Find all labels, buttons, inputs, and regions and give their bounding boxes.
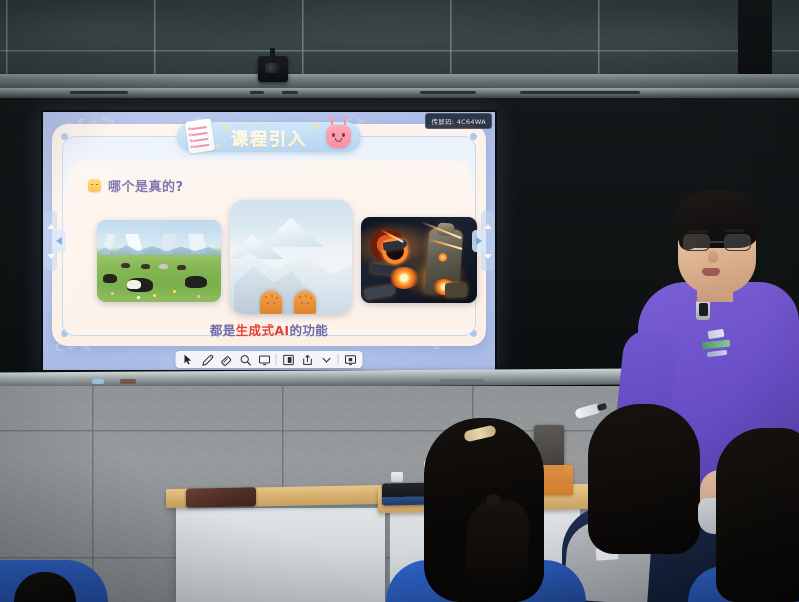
classroom-scene: + C ÷ % π ∞ √ < > C ÷ % Σ × # 传屏码: 4C64W… <box>0 0 799 602</box>
board-vent <box>520 91 640 94</box>
eraser-icon[interactable] <box>217 352 236 367</box>
board-vent <box>250 91 264 94</box>
rail-marker <box>92 379 104 384</box>
smiley-face-icon <box>88 179 101 192</box>
rail-strip <box>440 379 484 384</box>
hair-tie <box>486 494 501 506</box>
student-boy-hair <box>588 404 700 554</box>
board-eraser-cloth <box>186 487 256 507</box>
slide-canvas[interactable]: + C ÷ % π ∞ √ < > C ÷ % Σ × # 传屏码: 4C64W… <box>43 112 495 370</box>
share-icon[interactable] <box>298 352 317 367</box>
yak <box>185 276 207 288</box>
orange-croc-right <box>294 291 316 314</box>
flower <box>173 290 176 293</box>
student-right-hair <box>716 428 799 602</box>
slides-icon[interactable] <box>279 352 298 367</box>
slide-title: 课程引入 <box>231 125 307 150</box>
scroll-down-arrow[interactable] <box>47 254 55 259</box>
flower <box>197 295 200 298</box>
podium-base <box>176 497 385 602</box>
image-row <box>52 198 486 314</box>
flower <box>137 296 140 299</box>
next-slide-handle[interactable] <box>472 230 486 252</box>
mecha-core-glow <box>438 253 448 263</box>
caption-suffix: 的功能 <box>289 323 328 338</box>
scifi-mecha-battle-image[interactable] <box>361 217 477 303</box>
slide-outer-card: 哪个是真的? <box>52 124 486 346</box>
space-battle-scene <box>361 217 477 303</box>
question-row: 哪个是真的? <box>88 176 184 195</box>
horse <box>177 265 186 270</box>
cast-code-badge: 传屏码: 4C64WA <box>425 113 492 129</box>
glasses-icon <box>683 234 751 251</box>
cast-icon[interactable] <box>341 352 360 367</box>
screen-icon[interactable] <box>255 352 274 367</box>
scroll-down-arrow[interactable] <box>484 254 492 259</box>
snow-scene <box>230 200 352 314</box>
teacher-brow <box>688 230 708 233</box>
snow-mountain-crocs-photo[interactable] <box>230 200 352 314</box>
toolbar-divider <box>276 354 277 365</box>
horse <box>159 264 168 269</box>
board-vent <box>420 91 476 94</box>
scroll-up-arrow[interactable] <box>484 224 492 229</box>
caption-highlight: 生成式AI <box>236 323 290 338</box>
magnifier-icon[interactable] <box>236 352 255 367</box>
question-text: 哪个是真的? <box>108 176 184 195</box>
yak-white-patch <box>127 280 141 289</box>
grassland-yaks-photo[interactable] <box>97 220 221 302</box>
horse <box>141 264 150 269</box>
clip-on-microphone <box>696 300 710 320</box>
chevron-left-icon[interactable] <box>56 237 62 245</box>
pen-icon[interactable] <box>198 352 217 367</box>
slide-title-banner: ✦ ✦ ✦ 课程引入 <box>177 122 361 152</box>
flower <box>153 294 156 297</box>
sweatshirt-graphic <box>700 330 736 360</box>
slide-toolbar[interactable] <box>176 351 363 368</box>
pink-robot-icon <box>326 125 351 148</box>
board-top-rail <box>0 88 799 98</box>
scroll-up-arrow[interactable] <box>47 224 55 229</box>
ceiling-camera <box>258 56 288 82</box>
teacher-brow <box>724 229 744 232</box>
yak <box>103 274 117 283</box>
gun-barrel <box>364 284 395 299</box>
slide-caption: 都是生成式AI的功能 <box>52 320 486 339</box>
orange-croc-left <box>260 291 282 314</box>
horse <box>121 263 130 268</box>
board-vent <box>70 91 128 94</box>
ponytail <box>463 498 530 602</box>
rail-marker <box>120 379 136 384</box>
interactive-whiteboard-screen[interactable]: + C ÷ % π ∞ √ < > C ÷ % Σ × # 传屏码: 4C64W… <box>41 110 497 372</box>
caption-prefix: 都是 <box>210 323 236 338</box>
board-vent <box>282 91 298 94</box>
small-device <box>391 472 403 482</box>
teacher-mouth <box>702 268 720 276</box>
prev-slide-handle[interactable] <box>52 230 66 252</box>
chevron-down-icon[interactable] <box>317 352 336 367</box>
cursor-icon[interactable] <box>179 352 198 367</box>
clipboard-checklist-icon <box>185 118 215 153</box>
chevron-right-icon[interactable] <box>476 237 482 245</box>
flower <box>111 292 114 295</box>
teacher-nose <box>708 250 718 263</box>
toolbar-divider <box>338 354 339 365</box>
grassland-scene <box>97 220 221 302</box>
mecha-turret <box>445 283 467 297</box>
